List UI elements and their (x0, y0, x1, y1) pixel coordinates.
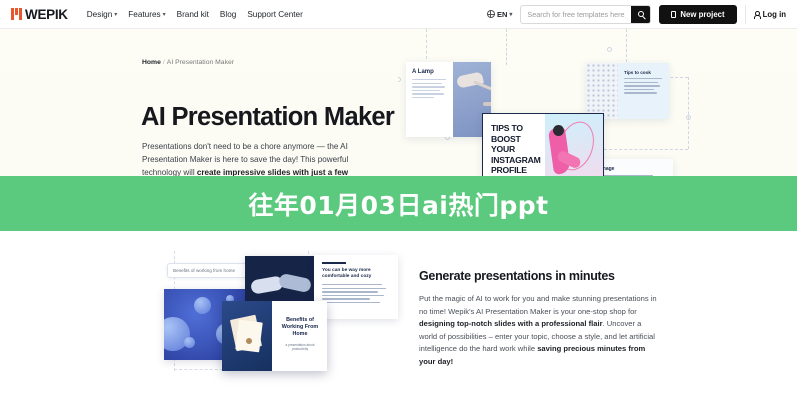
nav-label-features: Features (128, 10, 160, 19)
decorative-dash (688, 77, 689, 149)
slide-preview-benefits-subtitle: a presentation about productivity (278, 343, 322, 352)
login-button[interactable]: Log in (745, 5, 786, 24)
chevron-down-icon: ▾ (163, 12, 166, 18)
slide-preview-benefits-text: Benefits of Working From Home a presenta… (272, 301, 327, 371)
wepik-logo-icon (11, 8, 22, 20)
new-project-label: New project (680, 10, 724, 19)
decorative-circle (398, 77, 401, 82)
decorative-circle (607, 47, 612, 52)
section-text-1: Put the magic of AI to work for you and … (419, 294, 657, 316)
slide-preview-benefits-title: Benefits of Working From Home (278, 317, 322, 338)
page-title: AI Presentation Maker (141, 103, 394, 132)
overlay-banner: 往年01月03日ai热门ppt (0, 176, 797, 231)
nav-label-design: Design (87, 10, 113, 19)
decorative-circle (686, 115, 691, 120)
new-project-button[interactable]: New project (659, 5, 736, 24)
user-icon (754, 11, 759, 18)
wepik-logo[interactable]: WEPIK (11, 7, 68, 22)
main-nav: Design ▾ Features ▾ Brand kit Blog Suppo… (87, 10, 303, 19)
slide-card-tips-cook[interactable]: Tips to cook (586, 63, 669, 119)
login-label: Log in (763, 10, 786, 19)
slide-card-pattern (586, 63, 618, 119)
nav-label-brand-kit: Brand kit (177, 10, 209, 19)
nav-item-brand-kit[interactable]: Brand kit (177, 10, 209, 19)
slide-card-tips-cook-text: Tips to cook (618, 63, 669, 119)
wepik-logo-text: WEPIK (25, 7, 68, 22)
slide-card-damage-title: Damage (595, 166, 666, 172)
overlay-banner-text: 往年01月03日ai热门ppt (248, 186, 548, 222)
decorative-dash (426, 29, 427, 59)
decorative-dash (506, 29, 507, 65)
slide-preview-benefits[interactable]: Benefits of Working From Home a presenta… (222, 301, 327, 371)
breadcrumb-separator: / (163, 59, 165, 66)
slide-card-lamp[interactable]: A Lamp (406, 62, 491, 137)
header-actions: EN ▾ New project Log in (487, 5, 786, 24)
search-button[interactable] (631, 5, 650, 24)
site-header: WEPIK Design ▾ Features ▾ Brand kit Blog… (0, 0, 797, 29)
nav-label-blog: Blog (220, 10, 236, 19)
nav-item-blog[interactable]: Blog (220, 10, 236, 19)
slide-card-lamp-text: A Lamp (406, 62, 453, 137)
breadcrumb: Home/AI Presentation Maker (142, 59, 234, 66)
search-input[interactable] (521, 10, 631, 19)
search-icon (638, 11, 644, 17)
language-selector[interactable]: EN ▾ (487, 10, 512, 19)
document-icon (671, 11, 676, 18)
features-artwork: Benefits of working from home ✦ You can … (150, 251, 365, 391)
nav-item-support-center[interactable]: Support Center (247, 10, 303, 19)
slide-accent-bar (322, 262, 346, 264)
chevron-down-icon: ▾ (114, 12, 117, 18)
section-description: Put the magic of AI to work for you and … (419, 293, 657, 369)
decorative-dash (604, 149, 688, 150)
chevron-down-icon: ▾ (509, 12, 512, 18)
breadcrumb-current: AI Presentation Maker (167, 59, 234, 66)
nav-item-features[interactable]: Features ▾ (128, 10, 165, 19)
slide-preview-benefits-image (222, 301, 272, 371)
search-box (520, 5, 651, 24)
language-label: EN (497, 10, 507, 19)
section-title: Generate presentations in minutes (419, 269, 615, 283)
page-root: WEPIK Design ▾ Features ▾ Brand kit Blog… (0, 0, 797, 400)
slide-card-lamp-title: A Lamp (412, 69, 448, 75)
globe-icon (487, 10, 495, 18)
slide-preview-cozy-title: You can be way more comfortable and cozy (322, 268, 391, 280)
features-section: Generate presentations in minutes Put th… (0, 231, 797, 400)
nav-item-design[interactable]: Design ▾ (87, 10, 118, 19)
breadcrumb-home[interactable]: Home (142, 59, 161, 66)
nav-label-support-center: Support Center (247, 10, 303, 19)
slide-card-tips-cook-title: Tips to cook (624, 70, 663, 75)
slide-card-instagram-title: TIPS TO BOOST YOUR INSTAGRAM PROFILE (491, 123, 541, 176)
section-text-bold-1: designing top-notch slides with a profes… (419, 319, 603, 328)
